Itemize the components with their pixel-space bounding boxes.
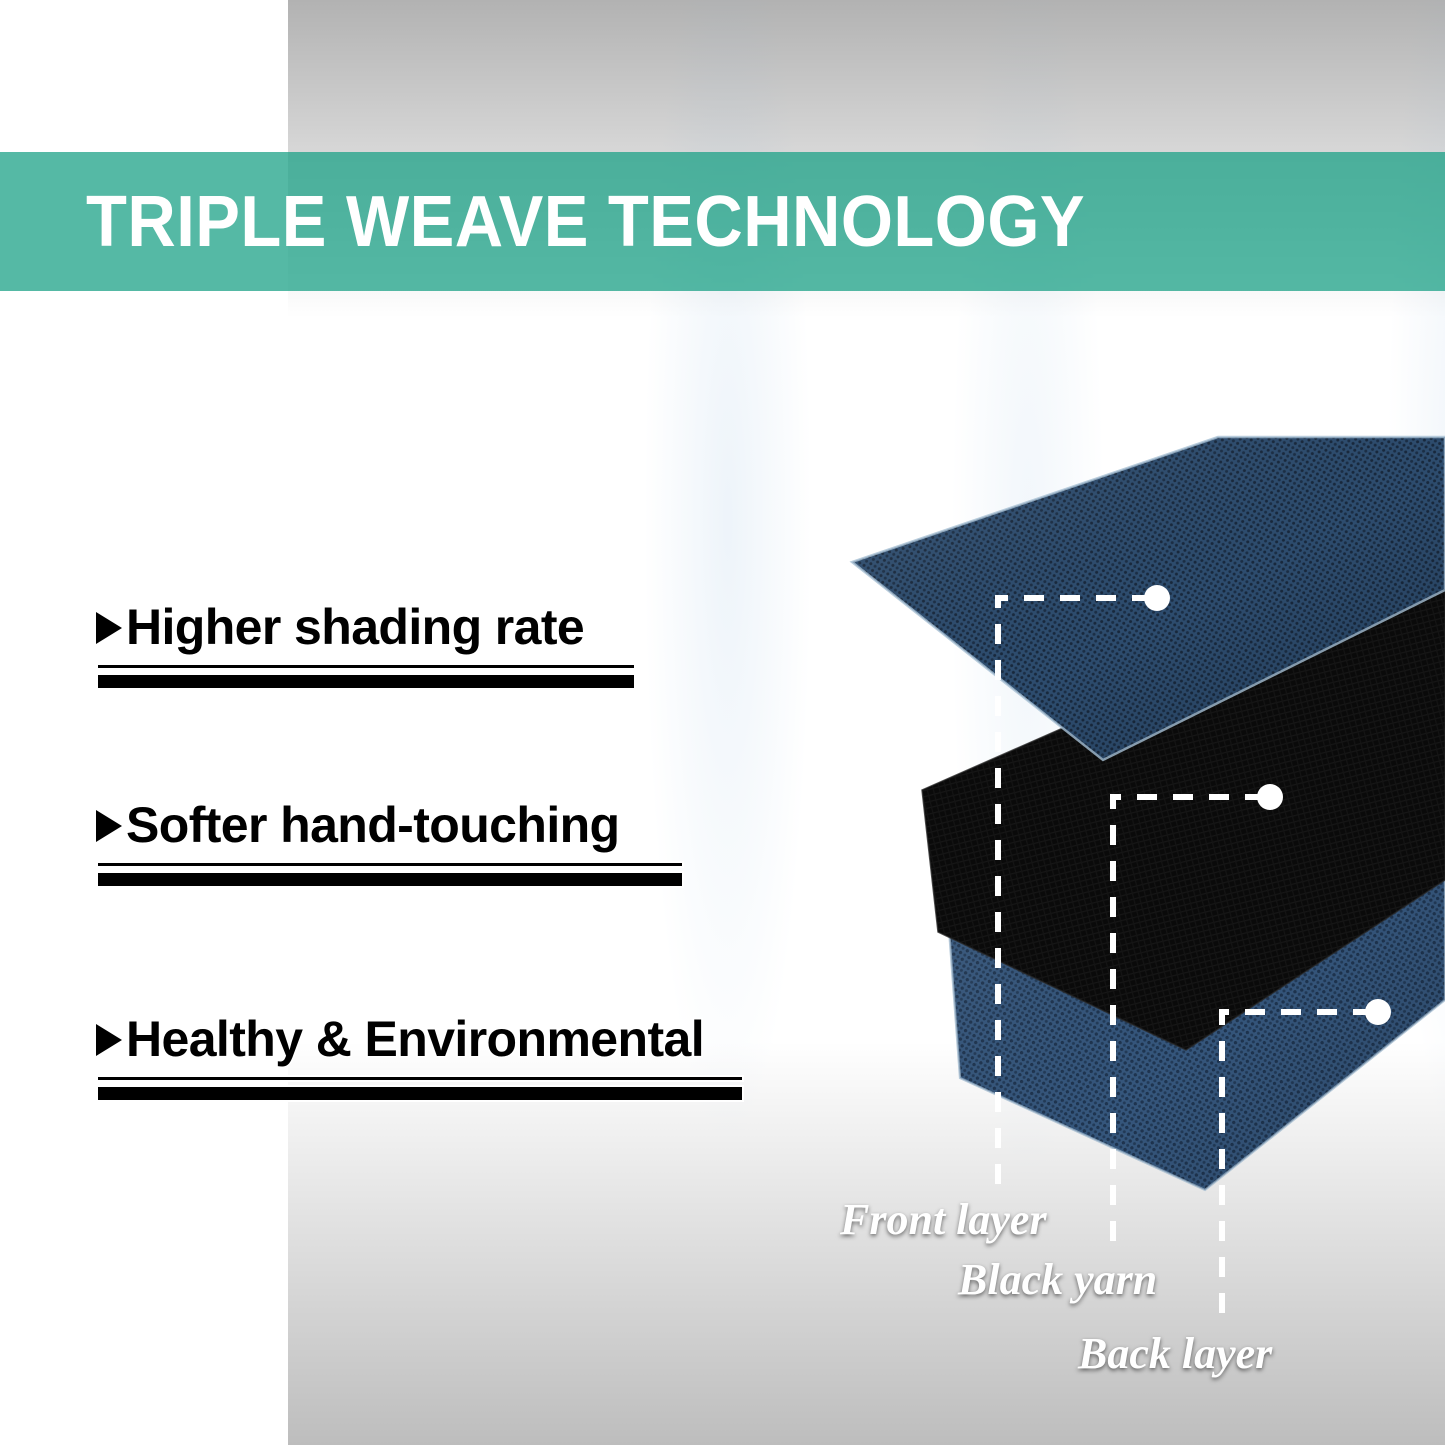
triangle-bullet-icon [96, 1024, 122, 1056]
banner: TRIPLE WEAVE TECHNOLOGY [0, 152, 1445, 291]
underline-bar-thin [96, 1075, 744, 1082]
layer-label-back-layer: Back layer [1078, 1332, 1272, 1376]
underline-bar-thick [96, 673, 636, 690]
infographic-canvas: TRIPLE WEAVE TECHNOLOGY Higher shading r… [0, 0, 1445, 1445]
feature-underline [96, 861, 684, 888]
feature-underline [96, 1075, 744, 1102]
feature-label: Softer hand-touching [126, 800, 620, 851]
triangle-bullet-icon [96, 612, 122, 644]
layer-label-black-yarn: Black yarn [958, 1258, 1157, 1302]
underline-bar-thin [96, 861, 684, 868]
feature-label: Higher shading rate [126, 602, 584, 653]
banner-title: TRIPLE WEAVE TECHNOLOGY [86, 186, 1085, 258]
triangle-bullet-icon [96, 810, 122, 842]
underline-bar-thin [96, 663, 636, 670]
underline-bar-thick [96, 1085, 744, 1102]
underline-bar-thick [96, 871, 684, 888]
feature-higher-shading-rate: Higher shading rate [96, 602, 636, 690]
feature-healthy-environmental: Healthy & Environmental [96, 1014, 744, 1102]
feature-underline [96, 663, 636, 690]
layer-label-front-layer: Front layer [840, 1198, 1047, 1242]
feature-softer-hand-touching: Softer hand-touching [96, 800, 684, 888]
feature-label: Healthy & Environmental [126, 1014, 704, 1065]
